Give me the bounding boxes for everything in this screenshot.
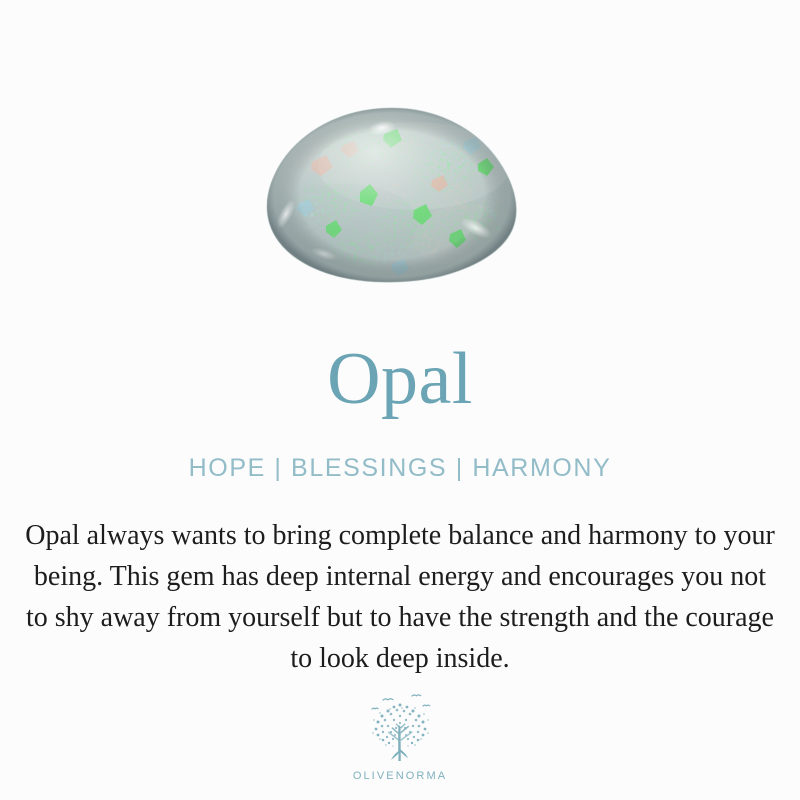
opal-cabochon-svg xyxy=(264,106,520,284)
hero-image-area xyxy=(0,0,800,300)
brand-wordmark: OLIVENORMA xyxy=(353,770,447,782)
opal-gemstone-image xyxy=(264,106,520,284)
description-text: Opal always wants to bring complete bala… xyxy=(20,516,780,680)
olive-tree-icon xyxy=(357,689,443,769)
brand-logo: OLIVENORMA xyxy=(0,689,800,782)
opal-info-card: Opal HOPE | BLESSINGS | HARMONY Opal alw… xyxy=(0,0,800,800)
keyword-line: HOPE | BLESSINGS | HARMONY xyxy=(189,454,612,483)
page-title: Opal xyxy=(327,342,473,416)
